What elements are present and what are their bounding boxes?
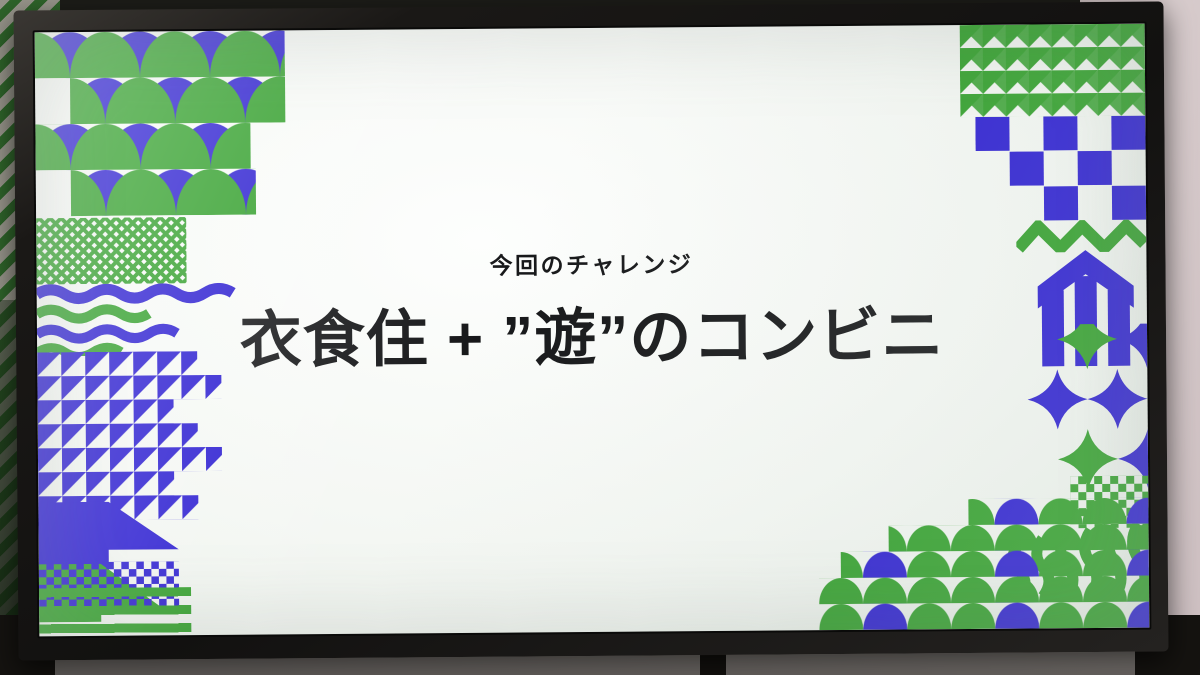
triangle-grid-green-right: [960, 24, 1146, 117]
television-screen: 今回のチャレンジ 衣食住 + ”遊”のコンビニ: [35, 24, 1150, 637]
slide-headline: 衣食住 + ”遊”のコンビニ: [37, 297, 1148, 379]
stripes-green-bottom-left: [39, 587, 191, 636]
checkerboard-blue-top-right: [975, 116, 1146, 222]
slide-text-block: 今回のチャレンジ 衣食住 + ”遊”のコンビニ: [36, 248, 1147, 379]
screenshot-stage: 今回のチャレンジ 衣食住 + ”遊”のコンビニ: [0, 0, 1200, 675]
scallop-fan-pattern-bottom-right: [818, 498, 1149, 631]
television-inner-frame: 今回のチャレンジ 衣食住 + ”遊”のコンビニ: [33, 22, 1152, 639]
television-bezel: 今回のチャレンジ 衣食住 + ”遊”のコンビニ: [13, 1, 1168, 660]
